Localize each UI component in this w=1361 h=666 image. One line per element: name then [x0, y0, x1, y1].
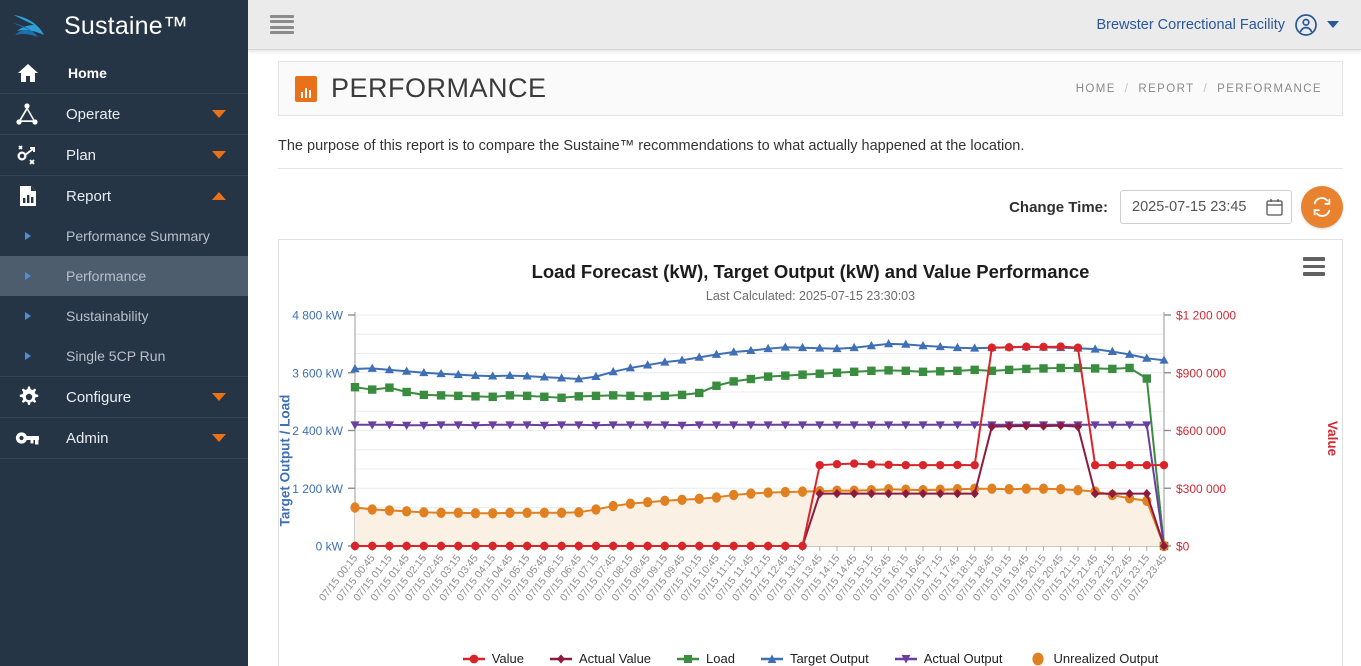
sidebar-subitem-label: Sustainability: [66, 308, 149, 324]
sidebar-item-single-5cp-run[interactable]: Single 5CP Run: [0, 336, 248, 376]
sidebar-item-operate[interactable]: Operate: [0, 93, 248, 134]
y-axis-right-title: Value: [1325, 421, 1340, 456]
chart-title: Load Forecast (kW), Target Output (kW) a…: [279, 240, 1342, 283]
svg-text:3 600 kW: 3 600 kW: [292, 366, 343, 380]
breadcrumb-item-home[interactable]: HOME: [1076, 83, 1116, 95]
legend-label: Actual Output: [924, 651, 1003, 666]
topbar: Brewster Correctional Facility: [248, 0, 1361, 50]
chevron-down-icon[interactable]: [212, 393, 226, 401]
svg-text:$300 000: $300 000: [1176, 482, 1226, 496]
home-icon: [10, 63, 46, 83]
key-icon: [10, 429, 46, 447]
svg-text:2 400 kW: 2 400 kW: [292, 424, 343, 438]
bullet-arrow-icon: [10, 272, 46, 280]
sidebar-item-plan[interactable]: Plan: [0, 134, 248, 175]
refresh-button[interactable]: [1301, 186, 1343, 228]
svg-text:$900 000: $900 000: [1176, 366, 1226, 380]
operate-network-icon: [10, 103, 46, 125]
sidebar-item-report[interactable]: Report: [0, 175, 248, 216]
sidebar-item-configure[interactable]: Configure: [0, 376, 248, 417]
breadcrumb-item-performance: PERFORMANCE: [1217, 83, 1322, 95]
svg-text:$600 000: $600 000: [1176, 424, 1226, 438]
sidebar-divider: [0, 458, 248, 459]
main-content: Brewster Correctional Facility PERFORMAN…: [248, 0, 1361, 666]
chart-card: Load Forecast (kW), Target Output (kW) a…: [278, 239, 1343, 666]
legend-label: Target Output: [790, 651, 869, 666]
legend-item-actual-output[interactable]: Actual Output: [895, 651, 1003, 666]
topbar-right: Brewster Correctional Facility: [1096, 13, 1339, 37]
page-description: The purpose of this report is to compare…: [278, 116, 1343, 169]
chart-plot-area: Target Output / Load Value 0 kW1 200 kW2…: [279, 303, 1342, 643]
sidebar-item-admin[interactable]: Admin: [0, 417, 248, 458]
legend-item-value[interactable]: Value: [463, 651, 524, 666]
user-avatar-icon[interactable]: [1294, 13, 1318, 37]
legend-item-actual-value[interactable]: Actual Value: [550, 651, 651, 666]
sidebar-subitem-label: Single 5CP Run: [66, 348, 165, 364]
change-time-value: 2025-07-15 23:45: [1132, 199, 1247, 215]
legend-label: Actual Value: [579, 651, 651, 666]
sidebar-item-performance-summary[interactable]: Performance Summary: [0, 216, 248, 256]
page-title: PERFORMANCE: [331, 73, 547, 104]
change-time-label: Change Time:: [1009, 199, 1108, 216]
sidebar-item-home[interactable]: Home: [0, 52, 248, 93]
app-root: Sustaine™ Home Operate: [0, 0, 1361, 666]
breadcrumb-item-report[interactable]: REPORT: [1138, 83, 1194, 95]
change-time-input[interactable]: 2025-07-15 23:45: [1120, 190, 1292, 224]
chevron-down-icon[interactable]: [212, 110, 226, 118]
svg-text:$1 200 000: $1 200 000: [1176, 309, 1236, 323]
bullet-arrow-icon: [10, 232, 46, 240]
legend-item-target-output[interactable]: Target Output: [761, 651, 869, 666]
plan-strategy-icon: [10, 144, 46, 166]
chart-legend: Value Actual Value Load Target Output Ac…: [279, 643, 1342, 666]
legend-item-unrealized-output[interactable]: Unrealized Output: [1029, 651, 1159, 666]
sidebar-item-label: Admin: [66, 430, 109, 447]
breadcrumb: HOME / REPORT / PERFORMANCE: [1076, 83, 1322, 95]
gear-icon: [10, 385, 46, 409]
hamburger-menu-icon[interactable]: [270, 15, 294, 35]
chart-svg: 0 kW1 200 kW2 400 kW3 600 kW4 800 kW$0$3…: [279, 303, 1320, 643]
sidebar-item-performance[interactable]: Performance: [0, 256, 248, 296]
legend-label: Value: [492, 651, 524, 666]
sidebar-item-sustainability[interactable]: Sustainability: [0, 296, 248, 336]
sidebar: Sustaine™ Home Operate: [0, 0, 248, 666]
brand-name: Sustaine™: [64, 12, 188, 41]
chevron-down-icon[interactable]: [1327, 21, 1339, 28]
chart-context-menu-icon[interactable]: [1303, 257, 1325, 280]
report-document-icon: [295, 76, 317, 102]
legend-label: Unrealized Output: [1054, 651, 1159, 666]
leaf-logo-icon: [10, 9, 50, 43]
sidebar-item-label: Plan: [66, 147, 96, 164]
chevron-down-icon[interactable]: [212, 151, 226, 159]
legend-item-load[interactable]: Load: [677, 651, 735, 666]
sidebar-subitem-label: Performance Summary: [66, 228, 210, 244]
chart-subtitle: Last Calculated: 2025-07-15 23:30:03: [279, 283, 1342, 303]
svg-text:4 800 kW: 4 800 kW: [292, 309, 343, 323]
calendar-icon[interactable]: [1266, 198, 1283, 216]
bullet-arrow-icon: [10, 352, 46, 360]
breadcrumb-separator: /: [1204, 83, 1209, 95]
sidebar-subitem-label: Performance: [66, 268, 146, 284]
sidebar-item-label: Configure: [66, 389, 131, 406]
chevron-down-icon[interactable]: [212, 434, 226, 442]
brand[interactable]: Sustaine™: [0, 0, 248, 52]
sidebar-item-label: Home: [68, 65, 107, 81]
facility-name[interactable]: Brewster Correctional Facility: [1096, 17, 1285, 33]
legend-label: Load: [706, 651, 735, 666]
svg-text:0 kW: 0 kW: [316, 540, 344, 554]
sidebar-item-label: Report: [66, 188, 111, 205]
sidebar-item-label: Operate: [66, 106, 120, 123]
svg-text:1 200 kW: 1 200 kW: [292, 482, 343, 496]
report-chart-icon: [10, 185, 46, 207]
chevron-up-icon[interactable]: [212, 192, 226, 200]
bullet-arrow-icon: [10, 312, 46, 320]
svg-text:$0: $0: [1176, 540, 1190, 554]
page-header: PERFORMANCE HOME / REPORT / PERFORMANCE: [278, 61, 1343, 116]
change-time-row: Change Time: 2025-07-15 23:45: [278, 169, 1343, 231]
breadcrumb-separator: /: [1125, 83, 1130, 95]
